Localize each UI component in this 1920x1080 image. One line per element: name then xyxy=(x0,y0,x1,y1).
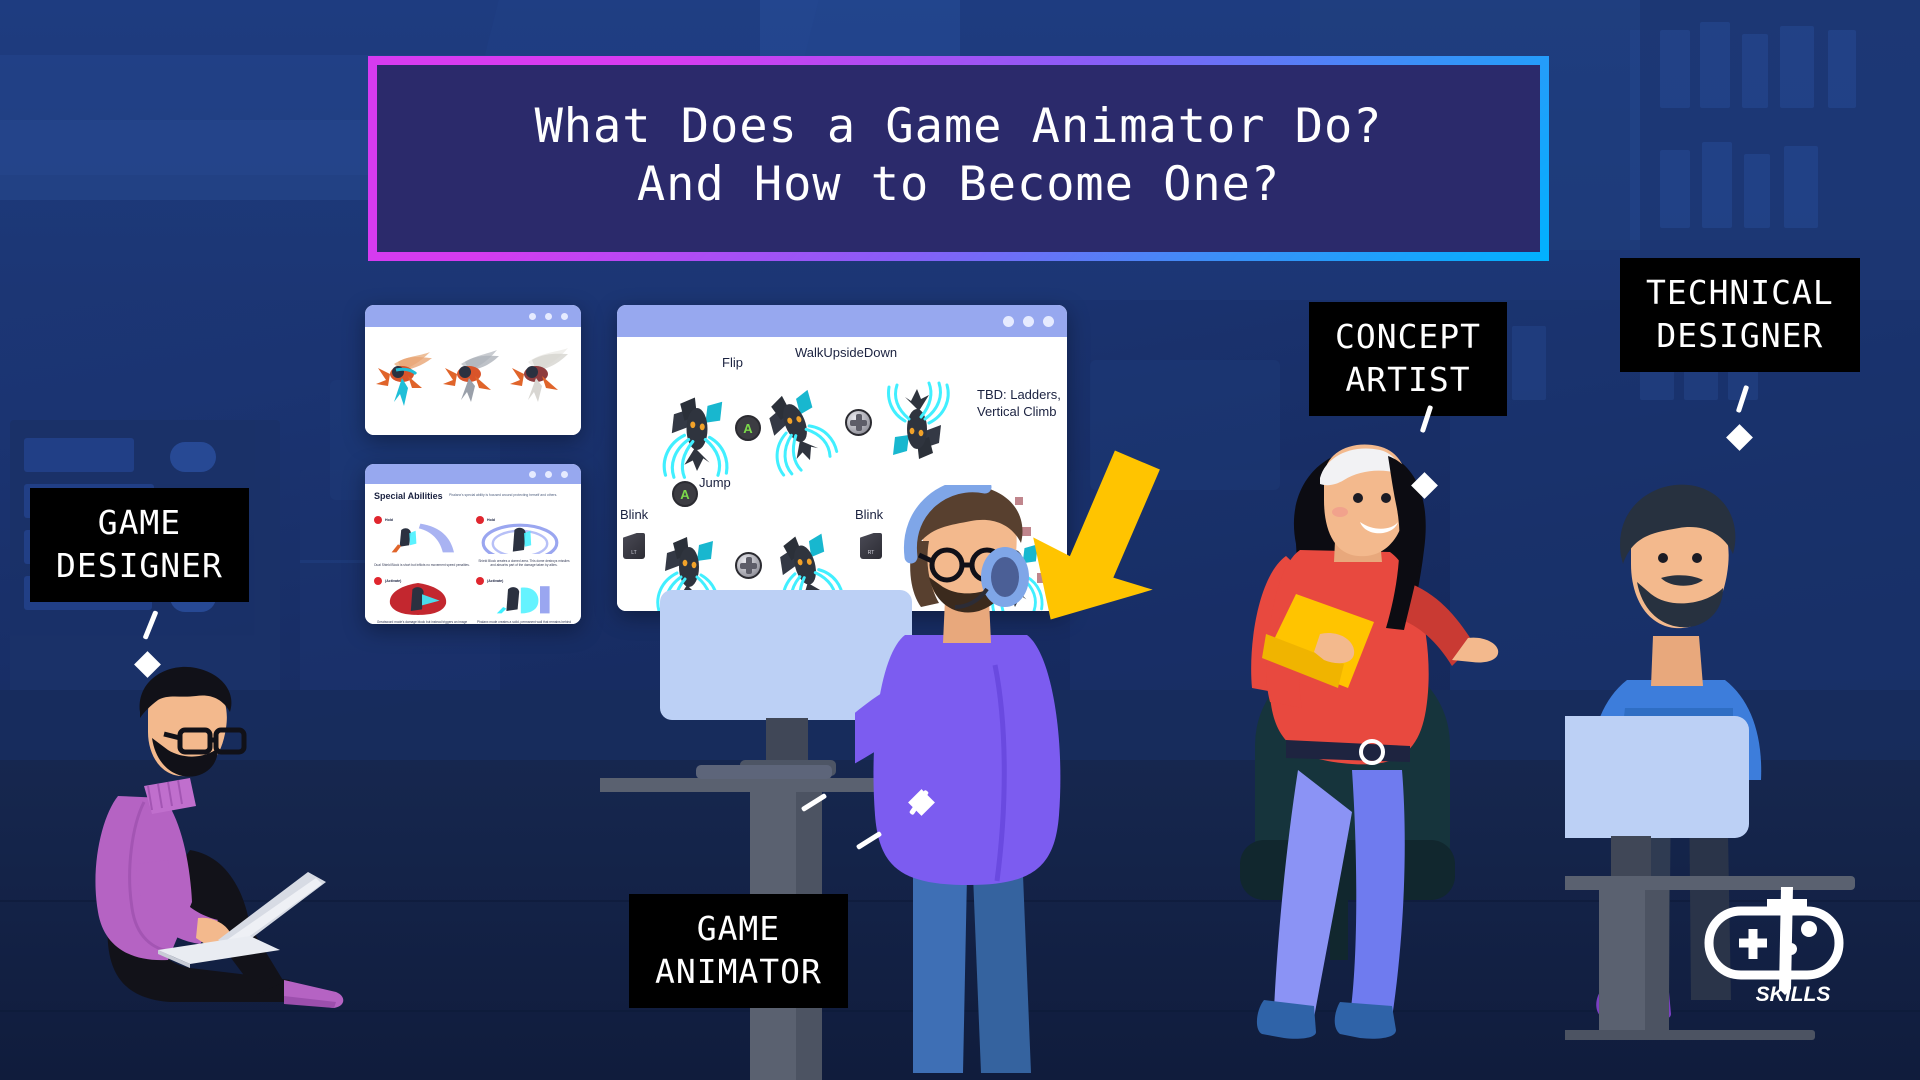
ability-card: (Activate) Phalanx mode creates a solid,… xyxy=(476,572,572,624)
person-game-designer xyxy=(40,650,350,1040)
pants-right xyxy=(973,875,1031,1073)
pointer-arrow xyxy=(1020,415,1180,660)
shoe-left xyxy=(1257,1000,1316,1039)
book xyxy=(1660,30,1690,108)
window-dot[interactable] xyxy=(545,471,552,478)
lt-trigger-icon: LT xyxy=(623,533,645,559)
window-dot[interactable] xyxy=(545,313,552,320)
pants-left xyxy=(913,875,967,1073)
ability-art xyxy=(476,522,564,554)
title-banner: What Does a Game Animator Do? And How to… xyxy=(368,56,1549,261)
eye-right xyxy=(1692,553,1702,563)
desk-foot xyxy=(1565,1030,1815,1040)
ability-description: Shield Block creates a domed area. This … xyxy=(476,559,572,568)
logo-dpad-icon xyxy=(1739,929,1767,959)
poster-canvas: What Does a Game Animator Do? And How to… xyxy=(0,0,1920,1080)
dpad-icon xyxy=(845,409,872,436)
label-game-designer[interactable]: GAME DESIGNER xyxy=(30,488,249,602)
book xyxy=(1700,22,1730,108)
window-dot[interactable] xyxy=(529,471,536,478)
monitor-neck xyxy=(1611,836,1651,882)
book xyxy=(1742,34,1768,108)
bat-sprite xyxy=(664,398,727,478)
pants-right xyxy=(1350,770,1405,1018)
title-line-1: What Does a Game Animator Do? xyxy=(535,98,1383,155)
bat-sprite xyxy=(889,383,949,459)
title-line-2: And How to Become One? xyxy=(637,156,1280,213)
label-concept-artist[interactable]: CONCEPT ARTIST xyxy=(1309,302,1507,416)
ability-description: Dual Shield Block is short but inflicts … xyxy=(374,563,470,568)
sprite-creature-2 xyxy=(443,344,503,418)
neck xyxy=(1651,636,1703,686)
window-dot[interactable] xyxy=(561,471,568,478)
logo-gamepad-outline xyxy=(1709,911,1839,975)
window-titlebar[interactable] xyxy=(617,305,1067,337)
wall-panel xyxy=(0,120,430,200)
annotation-flip: Flip xyxy=(722,355,743,372)
a-button-icon: A xyxy=(735,415,761,441)
headphone-cup-inner xyxy=(991,557,1019,597)
abilities-intro: Phalanx's special ability is focused aro… xyxy=(449,493,574,498)
person-concept-artist xyxy=(1240,440,1500,1040)
shoe-right xyxy=(1335,1002,1396,1039)
abilities-grid: Hold Dual Shield Block is short but infl… xyxy=(374,511,572,624)
monitor-screen xyxy=(1565,716,1749,838)
ability-art xyxy=(374,583,462,615)
window-dot[interactable] xyxy=(1023,316,1034,327)
window-dot[interactable] xyxy=(561,313,568,320)
a-button-icon: A xyxy=(672,481,698,507)
logo-wordmark: SKILLS xyxy=(1756,983,1831,1005)
annotation-walkupsidedown: WalkUpsideDown xyxy=(795,345,897,362)
eye-left xyxy=(1353,493,1363,503)
book xyxy=(1744,154,1770,228)
gd-skills-logo[interactable]: SKILLS xyxy=(1695,885,1855,1005)
keyboard xyxy=(696,765,832,779)
ability-description: Greatsword mode's damage block but inste… xyxy=(374,620,470,624)
window-special-abilities[interactable]: Special Abilities Phalanx's special abil… xyxy=(365,464,581,624)
window-titlebar[interactable] xyxy=(365,464,581,484)
arrow-shape xyxy=(1020,442,1180,619)
annotation-jump: Jump xyxy=(699,475,731,492)
eye-left xyxy=(1658,553,1668,563)
pants-left xyxy=(1274,770,1352,1018)
blush xyxy=(1332,507,1348,517)
sprite-creature-1 xyxy=(376,344,436,418)
window-dot[interactable] xyxy=(1043,316,1054,327)
book xyxy=(1828,30,1856,108)
window-content: Special Abilities Phalanx's special abil… xyxy=(365,484,581,624)
book xyxy=(1784,146,1818,228)
rack-slot xyxy=(24,438,134,472)
book xyxy=(1702,142,1732,228)
window-character-sprites[interactable] xyxy=(365,305,581,435)
window-dot[interactable] xyxy=(529,313,536,320)
wall-panel xyxy=(760,0,960,60)
book xyxy=(1780,26,1814,108)
book xyxy=(1660,150,1690,228)
ability-card: (Activate) Greatsword mode's damage bloc… xyxy=(374,572,470,624)
label-technical-designer[interactable]: TECHNICAL DESIGNER xyxy=(1620,258,1860,372)
ability-card: Hold Dual Shield Block is short but infl… xyxy=(374,511,470,568)
label-game-animator[interactable]: GAME ANIMATOR xyxy=(629,894,848,1008)
eye-right xyxy=(1381,493,1391,503)
window-titlebar[interactable] xyxy=(365,305,581,327)
ability-art xyxy=(476,583,564,615)
window-dot[interactable] xyxy=(1003,316,1014,327)
desk-leg-shadow xyxy=(1645,890,1669,1030)
window-content xyxy=(365,327,581,435)
ability-art xyxy=(374,522,462,554)
ability-card: Hold Shield Block creates a domed area. … xyxy=(476,511,572,568)
annotation-blink-left: Blink xyxy=(620,507,648,524)
rack-dial xyxy=(170,442,216,472)
title-panel: What Does a Game Animator Do? And How to… xyxy=(377,65,1540,252)
ability-description: Phalanx mode creates a solid, permanent … xyxy=(476,620,572,624)
bat-sprite xyxy=(755,385,839,478)
book xyxy=(1512,326,1546,400)
sprite-creature-3 xyxy=(510,344,570,418)
